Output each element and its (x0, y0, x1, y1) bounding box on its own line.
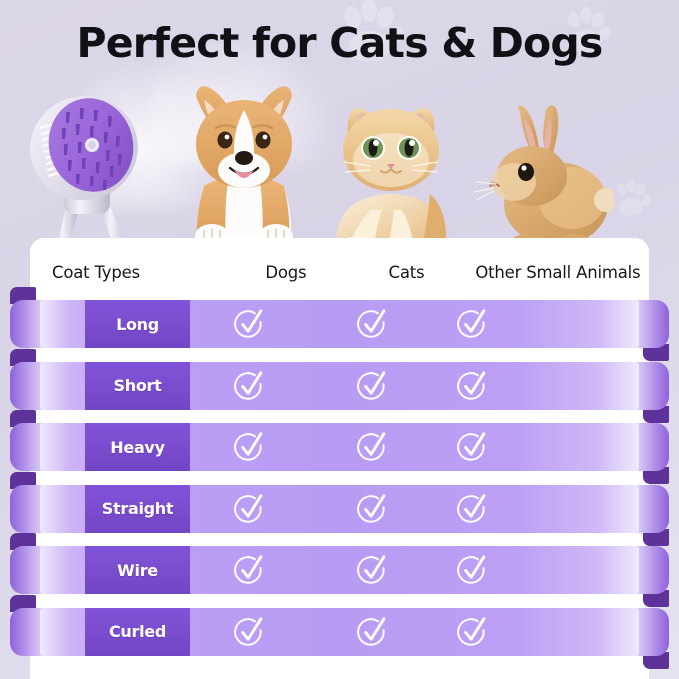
cell-dogs (190, 307, 308, 341)
animal-photo-dog (168, 78, 320, 253)
cell-dogs (190, 430, 308, 464)
coat-type-label: Wire (85, 546, 190, 594)
ribbon-band: Curled (40, 608, 639, 656)
cell-other (435, 615, 639, 649)
checkmark-icon (455, 553, 489, 587)
checkmark-icon (455, 615, 489, 649)
cell-dogs (190, 369, 308, 403)
cell-other (435, 553, 639, 587)
checkmark-icon (455, 369, 489, 403)
checkmark-icon (455, 307, 489, 341)
column-header-coat-types: Coat Types (30, 263, 226, 282)
cell-other (435, 307, 639, 341)
checkmark-icon (355, 615, 389, 649)
cell-cats (308, 492, 435, 526)
checkmark-icon (232, 492, 266, 526)
coat-type-label: Short (85, 362, 190, 410)
coat-type-label: Heavy (85, 423, 190, 471)
coat-type-label-text: Long (116, 315, 159, 334)
ribbon-cells (190, 423, 639, 471)
coat-type-label-text: Curled (109, 622, 166, 641)
table-row: Wire (0, 546, 679, 594)
column-header-other: Other Small Animals (467, 263, 649, 282)
table-row: Heavy (0, 423, 679, 471)
checkmark-icon (355, 430, 389, 464)
checkmark-icon (455, 430, 489, 464)
table-row: Curled (0, 608, 679, 656)
cell-other (435, 430, 639, 464)
cell-dogs (190, 553, 308, 587)
infographic-canvas: Coat Types Dogs Cats Other Small Animals… (0, 0, 679, 679)
ribbon-band: Heavy (40, 423, 639, 471)
checkmark-icon (455, 492, 489, 526)
cell-other (435, 369, 639, 403)
coat-type-label: Curled (85, 608, 190, 656)
cell-dogs (190, 615, 308, 649)
ribbon-cells (190, 608, 639, 656)
checkmark-icon (232, 369, 266, 403)
ribbon-band: Straight (40, 485, 639, 533)
ribbon-band: Short (40, 362, 639, 410)
table-header-row: Coat Types Dogs Cats Other Small Animals (30, 238, 649, 306)
table-row: Straight (0, 485, 679, 533)
checkmark-icon (232, 615, 266, 649)
cell-cats (308, 430, 435, 464)
cell-other (435, 492, 639, 526)
column-header-cats: Cats (346, 263, 467, 282)
cell-cats (308, 369, 435, 403)
ribbon-cells (190, 485, 639, 533)
checkmark-icon (232, 430, 266, 464)
table-row: Long (0, 300, 679, 348)
coat-type-label: Long (85, 300, 190, 348)
page-title: Perfect for Cats & Dogs (0, 22, 679, 65)
table-row: Short (0, 362, 679, 410)
checkmark-icon (232, 307, 266, 341)
animal-photo-cat (318, 98, 464, 253)
cell-cats (308, 553, 435, 587)
cell-dogs (190, 492, 308, 526)
product-grooming-brush (8, 88, 158, 258)
column-header-dogs: Dogs (226, 263, 347, 282)
checkmark-icon (355, 369, 389, 403)
checkmark-icon (355, 553, 389, 587)
checkmark-icon (355, 307, 389, 341)
coat-type-label-text: Straight (102, 499, 173, 518)
coat-type-ribbon-list: Long Short (0, 300, 679, 669)
coat-type-label: Straight (85, 485, 190, 533)
checkmark-icon (232, 553, 266, 587)
cell-cats (308, 307, 435, 341)
ribbon-band: Long (40, 300, 639, 348)
animal-photo-rabbit (474, 104, 614, 252)
ribbon-cells (190, 300, 639, 348)
checkmark-icon (355, 492, 389, 526)
coat-type-label-text: Wire (117, 561, 158, 580)
coat-type-label-text: Short (114, 376, 162, 395)
ribbon-cells (190, 546, 639, 594)
ribbon-cells (190, 362, 639, 410)
ribbon-band: Wire (40, 546, 639, 594)
coat-type-label-text: Heavy (110, 438, 164, 457)
cell-cats (308, 615, 435, 649)
